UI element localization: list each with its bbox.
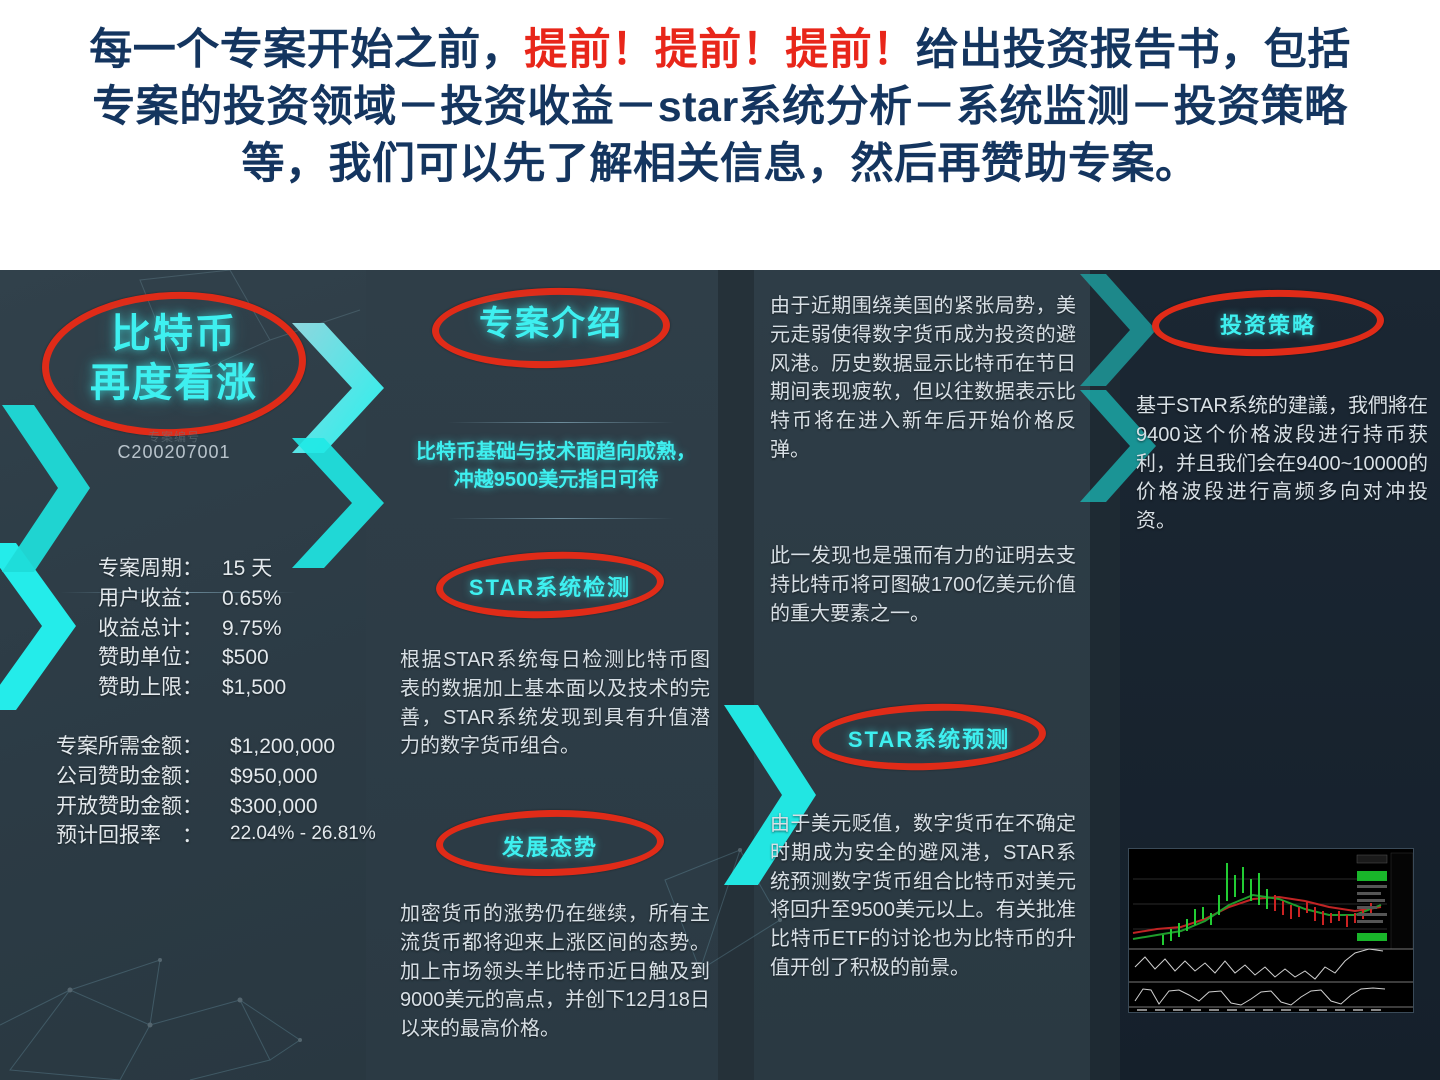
stat-row: 赞助单位： $500 [98, 643, 286, 673]
stat-value: $950,000 [230, 762, 318, 792]
stat-value: 9.75% [222, 614, 282, 644]
stat-key: 赞助上限： [98, 673, 216, 703]
header-line-1-part-a: 每一个专案开始之前， [89, 26, 524, 74]
stat-row: 专案周期： 15 天 [98, 554, 286, 584]
paragraph-valuation: 此一发现也是强而有力的证明去支持比特币将可图破1700亿美元价值的重大要素之一。 [770, 542, 1076, 628]
poster-image: 比特币 再度看涨 专案编号 C200207001 专案周期： 15 天 用户收益… [0, 270, 1440, 1080]
intro-subtitle-line-1: 比特币基础与技术面趋向成熟， [396, 438, 716, 466]
stat-key: 专案周期： [98, 554, 216, 584]
section-heading-trend: 发展态势 [436, 830, 664, 862]
stats-funding: 专案所需金额： $1,200,000 公司赞助金额： $950,000 开放赞助… [56, 732, 376, 851]
header-line-1-emphasis: 提前！提前！提前！ [524, 26, 916, 74]
paragraph-trend: 加密货币的涨势仍在继续，所有主流货币都将迎来上涨区间的态势。加上市场领头羊比特币… [400, 900, 710, 1044]
stat-value: $500 [222, 643, 269, 673]
project-code: C200207001 [48, 442, 300, 463]
stat-key: 专案所需金额： [56, 732, 224, 762]
section-heading-star-forecast: STAR系统预测 [812, 722, 1046, 754]
section-heading-strategy: 投资策略 [1152, 308, 1384, 340]
header-line-1-part-b: 给出投资报告书，包括 [916, 26, 1351, 74]
stat-key: 开放赞助金额： [56, 792, 224, 822]
section-heading-star-detect: STAR系统检测 [436, 570, 664, 602]
paragraph-star-detect: 根据STAR系统每日检测比特币图表的数据加上基本面以及技术的完善，STAR系统发… [400, 646, 710, 761]
paragraph-strategy: 基于STAR系统的建議，我們將在9400这个价格波段进行持币获利，并且我们会在9… [1136, 392, 1428, 536]
stat-row: 收益总计： 9.75% [98, 614, 286, 644]
divider-2 [1090, 270, 1120, 1080]
stat-value: $1,200,000 [230, 732, 335, 762]
table-row: 开放赞助金额： $300,000 [56, 792, 376, 822]
intro-subtitle: 比特币基础与技术面趋向成熟， 冲越9500美元指日可待 [396, 438, 716, 495]
header-line-1: 每一个专案开始之前，提前！提前！提前！给出投资报告书，包括 [24, 22, 1416, 79]
section-heading-intro: 专案介绍 [432, 304, 670, 345]
header-line-2: 专案的投资领域－投资收益－star系统分析－系统监测－投资策略 [24, 79, 1416, 136]
divider-line-col2-a [448, 422, 674, 423]
trading-chart-thumbnail [1128, 848, 1414, 1013]
table-row: 专案所需金额： $1,200,000 [56, 732, 376, 762]
trading-chart-svg [1129, 849, 1414, 1013]
stat-key: 赞助单位： [98, 643, 216, 673]
stat-key: 预计回报率 ： [56, 821, 224, 851]
stats-project: 专案周期： 15 天 用户收益： 0.65% 收益总计： 9.75% 赞助单位：… [98, 554, 286, 703]
poster-title-line-2: 再度看涨 [48, 359, 300, 408]
stat-row: 用户收益： 0.65% [98, 584, 286, 614]
stat-value: $1,500 [222, 673, 286, 703]
stat-value: 22.04% - 26.81% [230, 821, 376, 851]
poster-title: 比特币 再度看涨 [48, 310, 300, 408]
table-row: 公司赞助金额： $950,000 [56, 762, 376, 792]
stat-key: 公司赞助金额： [56, 762, 224, 792]
stat-value: 15 天 [222, 554, 272, 584]
stat-row: 赞助上限： $1,500 [98, 673, 286, 703]
stat-key: 用户收益： [98, 584, 216, 614]
divider-1 [718, 270, 754, 1080]
table-row: 预计回报率 ： 22.04% - 26.81% [56, 821, 376, 851]
paragraph-market-context: 由于近期围绕美国的紧张局势，美元走弱使得数字货币成为投资的避风港。历史数据显示比… [770, 292, 1076, 465]
stat-key: 收益总计： [98, 614, 216, 644]
header-banner: 每一个专案开始之前，提前！提前！提前！给出投资报告书，包括 专案的投资领域－投资… [0, 0, 1440, 270]
stat-value: $300,000 [230, 792, 318, 822]
poster-title-line-1: 比特币 [48, 310, 300, 359]
stat-value: 0.65% [222, 584, 282, 614]
header-line-3: 等，我们可以先了解相关信息，然后再赞助专案。 [24, 136, 1416, 193]
divider-line-col2-b [448, 518, 674, 519]
paragraph-star-forecast: 由于美元贬值，数字货币在不确定时期成为安全的避风港，STAR系统预测数字货币组合… [770, 810, 1076, 983]
intro-subtitle-line-2: 冲越9500美元指日可待 [396, 466, 716, 494]
